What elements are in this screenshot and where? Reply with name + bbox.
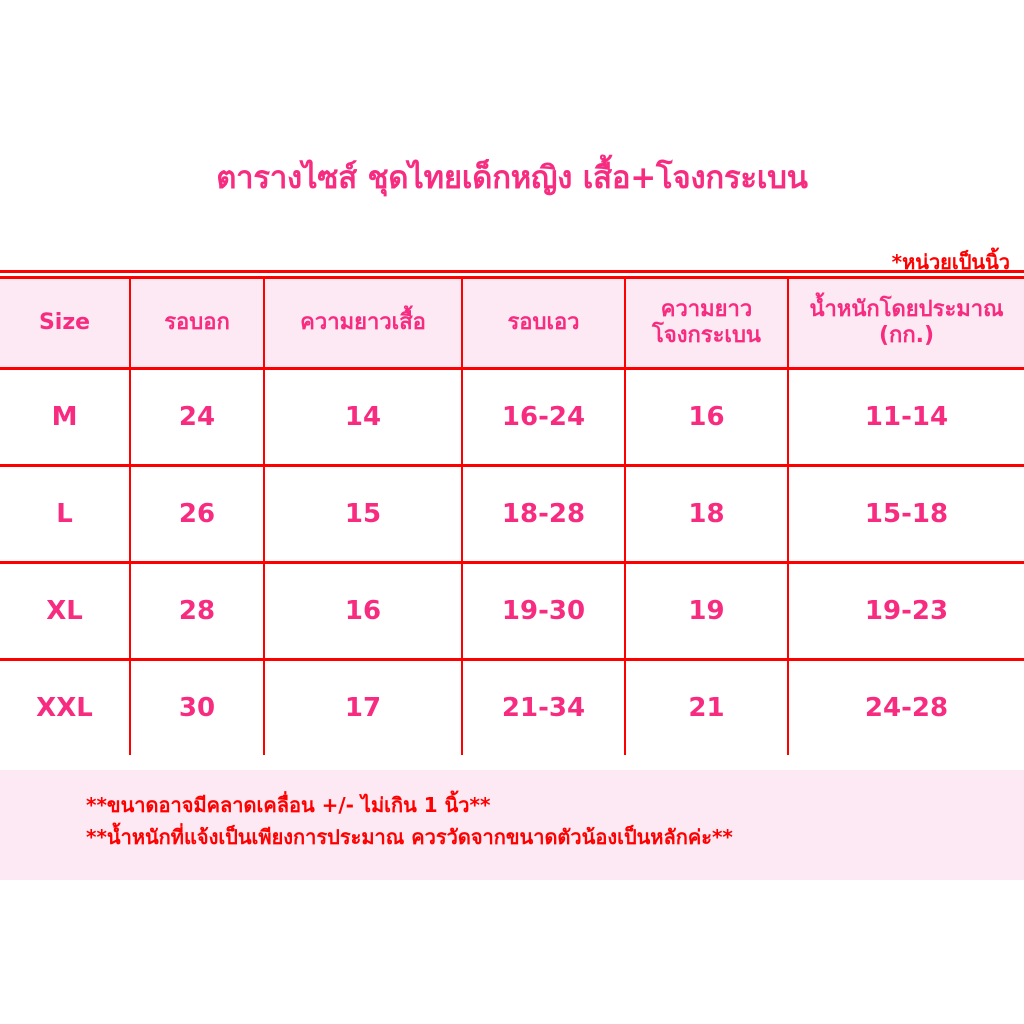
- cell-jong-length: 18: [625, 466, 788, 563]
- column-header-jong-length: ความยาว โจงกระเบน: [625, 278, 788, 369]
- column-header-shirt-length: ความยาวเสื้อ: [264, 278, 462, 369]
- footer-note-tolerance: **ขนาดอาจมีคลาดเคลื่อน +/- ไม่เกิน 1 นิ้…: [86, 789, 986, 821]
- cell-waist: 16-24: [462, 369, 625, 466]
- cell-weight: 15-18: [788, 466, 1024, 563]
- table-row: L 26 15 18-28 18 15-18: [0, 466, 1024, 563]
- cell-weight: 19-23: [788, 563, 1024, 660]
- column-header-jong-length-line1: ความยาว: [626, 297, 787, 323]
- column-header-weight-line1: น้ำหนักโดยประมาณ: [789, 297, 1024, 323]
- cell-jong-length: 19: [625, 563, 788, 660]
- table-header-row: Size รอบอก ความยาวเสื้อ รอบเอว ความยาว โ…: [0, 278, 1024, 369]
- column-header-jong-length-line2: โจงกระเบน: [626, 323, 787, 349]
- page-title: ตารางไซส์ ชุดไทยเด็กหญิง เสื้อ+โจงกระเบน: [0, 160, 1024, 197]
- cell-shirt-length: 14: [264, 369, 462, 466]
- column-header-shirt-length-line1: ความยาวเสื้อ: [300, 310, 426, 335]
- table-row: XXL 30 17 21-34 21 24-28: [0, 660, 1024, 756]
- column-header-chest: รอบอก: [130, 278, 264, 369]
- cell-jong-length: 16: [625, 369, 788, 466]
- column-header-waist: รอบเอว: [462, 278, 625, 369]
- cell-size: L: [0, 466, 130, 563]
- size-chart-table: Size รอบอก ความยาวเสื้อ รอบเอว ความยาว โ…: [0, 276, 1024, 755]
- cell-weight: 24-28: [788, 660, 1024, 756]
- cell-chest: 24: [130, 369, 264, 466]
- table-row: M 24 14 16-24 16 11-14: [0, 369, 1024, 466]
- column-header-chest-line1: รอบอก: [164, 310, 230, 335]
- cell-shirt-length: 16: [264, 563, 462, 660]
- cell-waist: 19-30: [462, 563, 625, 660]
- table-row: XL 28 16 19-30 19 19-23: [0, 563, 1024, 660]
- column-header-weight: น้ำหนักโดยประมาณ (กก.): [788, 278, 1024, 369]
- cell-shirt-length: 15: [264, 466, 462, 563]
- footer-notes: **ขนาดอาจมีคลาดเคลื่อน +/- ไม่เกิน 1 นิ้…: [86, 789, 986, 854]
- cell-jong-length: 21: [625, 660, 788, 756]
- cell-chest: 30: [130, 660, 264, 756]
- footer-note-weight-disclaimer: **น้ำหนักที่แจ้งเป็นเพียงการประมาณ ควรวั…: [86, 821, 986, 853]
- cell-size: XXL: [0, 660, 130, 756]
- cell-size: XL: [0, 563, 130, 660]
- cell-chest: 26: [130, 466, 264, 563]
- column-header-size-line1: Size: [39, 310, 90, 335]
- cell-chest: 28: [130, 563, 264, 660]
- column-header-waist-line1: รอบเอว: [507, 310, 579, 335]
- cell-shirt-length: 17: [264, 660, 462, 756]
- column-header-weight-line2: (กก.): [789, 323, 1024, 349]
- cell-size: M: [0, 369, 130, 466]
- unit-note: *หน่วยเป็นนิ้ว: [892, 246, 1010, 278]
- column-header-size: Size: [0, 278, 130, 369]
- cell-waist: 21-34: [462, 660, 625, 756]
- table-top-rule: [0, 270, 1024, 273]
- cell-weight: 11-14: [788, 369, 1024, 466]
- cell-waist: 18-28: [462, 466, 625, 563]
